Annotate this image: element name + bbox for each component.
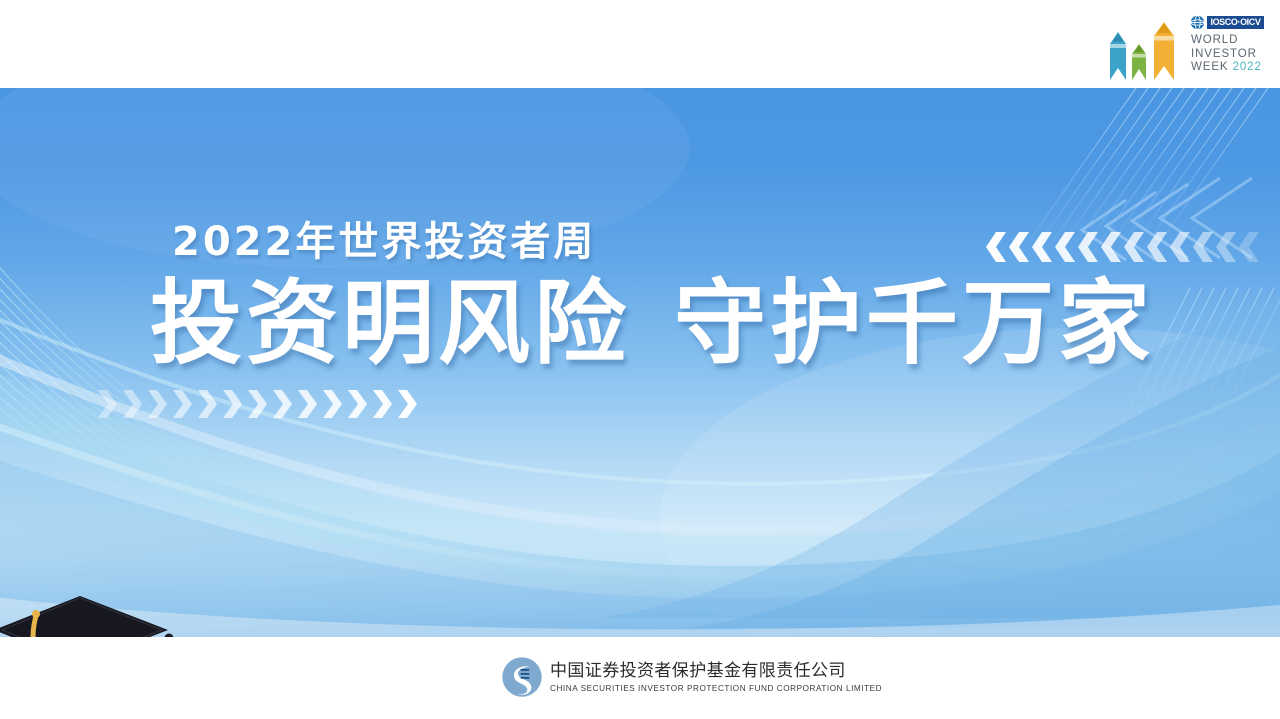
sponsor-logo-lockup: 中国证券投资者保护基金有限责任公司 CHINA SECURITIES INVES… [501,656,882,698]
professor-mascot-illustration [0,578,200,637]
sponsor-name-block: 中国证券投资者保护基金有限责任公司 CHINA SECURITIES INVES… [550,661,882,694]
event-kicker-title: 2022年世界投资者周 [172,209,596,267]
poster-page: IOSCO·OICV WORLD INVESTOR WEEK 2022 [0,0,1280,719]
world-investor-week-logo: IOSCO·OICV WORLD INVESTOR WEEK 2022 [1096,6,1266,84]
chevron-strip-right [984,230,1264,264]
csipf-logo-icon [501,656,543,698]
iosco-wordmark: IOSCO·OICV [1207,16,1264,29]
wiw-line-investor: INVESTOR [1191,48,1267,62]
sponsor-name-en: CHINA SECURITIES INVESTOR PROTECTION FUN… [550,683,882,694]
wiw-line-world: WORLD [1191,34,1267,48]
chevron-strip-left [96,388,426,420]
cap-board [0,596,168,637]
graduation-cap [0,596,168,637]
iosco-oicv-badge: IOSCO·OICV [1190,14,1264,30]
wiw-year: 2022 [1233,61,1262,73]
footer-bar: 中国证券投资者保护基金有限责任公司 CHINA SECURITIES INVES… [0,637,1280,719]
world-investor-week-wordmark: WORLD INVESTOR WEEK 2022 [1191,34,1267,75]
main-headline: 投资明风险守护千万家 [150,278,1154,370]
headline-part-1: 投资明风险 [150,270,630,377]
wiw-week-word: WEEK [1191,61,1228,73]
wiw-line-week-year: WEEK 2022 [1191,61,1267,75]
sponsor-name-cn: 中国证券投资者保护基金有限责任公司 [550,661,882,681]
three-pencils-icon [1096,18,1188,82]
headline-part-2: 守护千万家 [674,270,1154,377]
globe-icon [1190,15,1205,30]
top-logo-bar: IOSCO·OICV WORLD INVESTOR WEEK 2022 [0,0,1280,88]
main-banner: 2022年世界投资者周 投资明风险守护千万家 [0,88,1280,637]
